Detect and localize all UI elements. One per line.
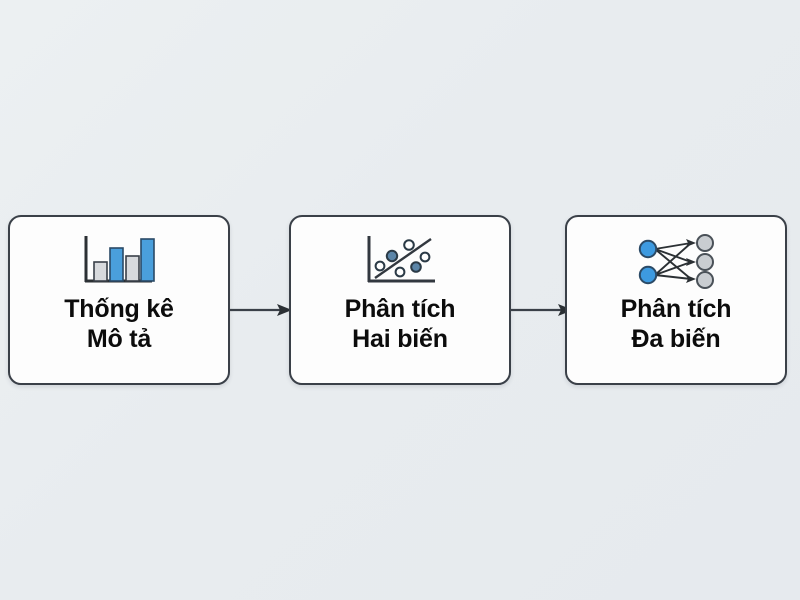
flow-arrow-1 bbox=[230, 300, 292, 320]
flow-node-label: Thống kê Mô tả bbox=[64, 295, 174, 354]
node-label-line-1: Phân tích bbox=[621, 295, 732, 323]
scatter-plot-icon bbox=[361, 233, 439, 291]
flowchart: Thống kê Mô tả bbox=[0, 215, 800, 387]
flow-node-label: Phân tích Hai biến bbox=[345, 295, 456, 354]
node-label-line-2: Đa biến bbox=[621, 325, 732, 355]
flow-node-label: Phân tích Đa biến bbox=[621, 295, 732, 354]
diagram-canvas: Thống kê Mô tả bbox=[0, 0, 800, 600]
bar-chart-icon bbox=[80, 233, 158, 291]
flow-arrow-2 bbox=[511, 300, 573, 320]
node-label-line-1: Phân tích bbox=[345, 295, 456, 323]
node-label-line-1: Thống kê bbox=[64, 295, 174, 323]
flow-node-descriptive-statistics[interactable]: Thống kê Mô tả bbox=[8, 215, 230, 385]
neural-network-icon bbox=[633, 233, 719, 291]
flow-node-bivariate-analysis[interactable]: Phân tích Hai biến bbox=[289, 215, 511, 385]
flow-node-multivariate-analysis[interactable]: Phân tích Đa biến bbox=[565, 215, 787, 385]
node-label-line-2: Mô tả bbox=[64, 325, 174, 355]
node-label-line-2: Hai biến bbox=[345, 325, 456, 355]
